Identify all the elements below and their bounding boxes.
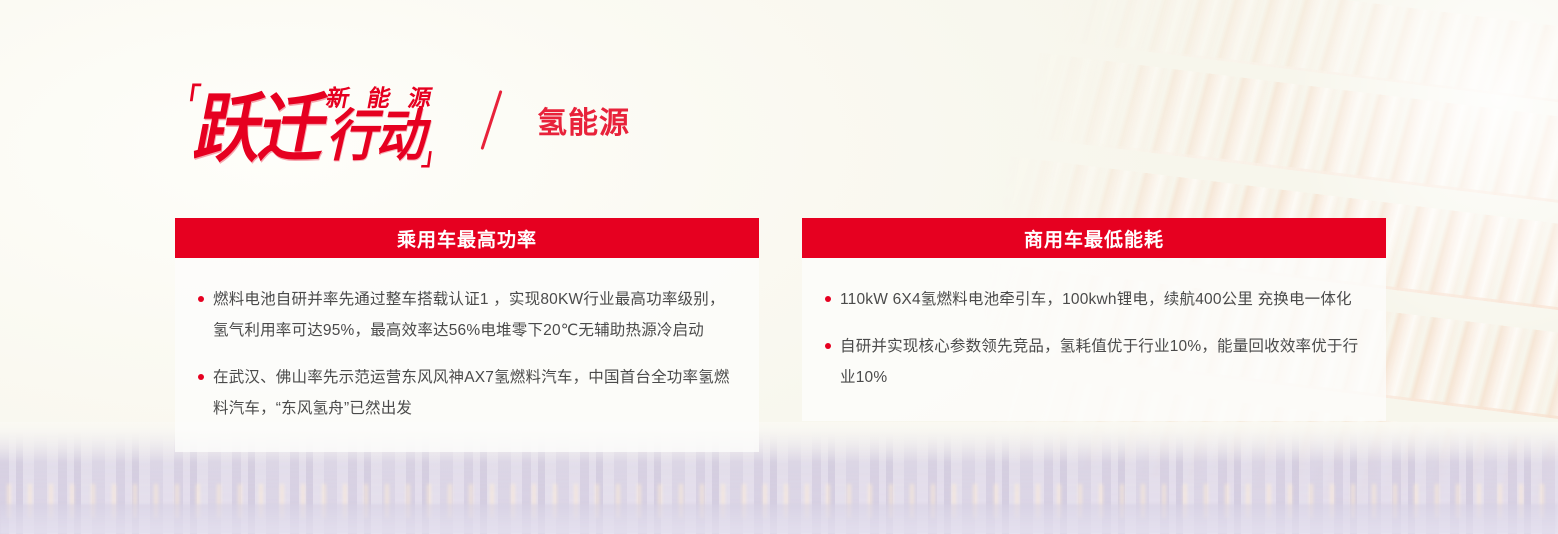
bullet-dot-icon bbox=[198, 374, 204, 380]
arch-rib-band bbox=[1055, 0, 1558, 128]
bullet-dot-icon bbox=[825, 343, 831, 349]
card-body: 110kW 6X4氢燃料电池牵引车，100kwh锂电，续航400公里 充换电一体… bbox=[802, 258, 1386, 421]
slide-header: 「 跃迁 新 能 源 行动 」 氢能源 bbox=[176, 70, 630, 170]
bullet-list: 110kW 6X4氢燃料电池牵引车，100kwh锂电，续航400公里 充换电一体… bbox=[818, 284, 1362, 393]
logo-close-bracket-icon: 」 bbox=[420, 146, 447, 170]
bullet-dot-icon bbox=[825, 296, 831, 302]
logo-secondary-group: 新 能 源 行动 bbox=[324, 88, 434, 164]
slide-canvas: 「 跃迁 新 能 源 行动 」 氢能源 乘用车最高功率 燃料电池自研并率先通过整… bbox=[0, 0, 1558, 534]
card-header-bar: 乘用车最高功率 bbox=[175, 218, 759, 258]
brand-logo: 「 跃迁 新 能 源 行动 」 bbox=[176, 74, 434, 166]
list-item: 110kW 6X4氢燃料电池牵引车，100kwh锂电，续航400公里 充换电一体… bbox=[818, 284, 1362, 315]
arch-rib-band bbox=[1024, 52, 1558, 225]
card-body: 燃料电池自研并率先通过整车搭载认证1 ，实现80KW行业最高功率级别，氢气利用率… bbox=[175, 258, 759, 452]
bullet-list: 燃料电池自研并率先通过整车搭载认证1 ，实现80KW行业最高功率级别，氢气利用率… bbox=[191, 284, 735, 424]
card-title: 商用车最低能耗 bbox=[1024, 225, 1164, 252]
list-item: 自研并实现核心参数领先竞品，氢耗值优于行业10%，能量回收效率优于行业10% bbox=[818, 331, 1362, 393]
logo-action-text: 行动 bbox=[324, 108, 435, 164]
page-title: 氢能源 bbox=[537, 98, 630, 142]
card-title: 乘用车最高功率 bbox=[397, 225, 537, 252]
list-item-text: 自研并实现核心参数领先竞品，氢耗值优于行业10%，能量回收效率优于行业10% bbox=[840, 338, 1358, 386]
slash-divider-icon bbox=[481, 90, 503, 150]
card-header-bar: 商用车最低能耗 bbox=[802, 218, 1386, 258]
bullet-dot-icon bbox=[198, 296, 204, 302]
list-item-text: 燃料电池自研并率先通过整车搭载认证1 ，实现80KW行业最高功率级别，氢气利用率… bbox=[213, 291, 725, 339]
logo-open-bracket-icon: 「 bbox=[172, 84, 202, 110]
list-item-text: 在武汉、佛山率先示范运营东风风神AX7氢燃料汽车，中国首台全功率氢燃料汽车，“东… bbox=[213, 369, 730, 417]
list-item: 燃料电池自研并率先通过整车搭载认证1 ，实现80KW行业最高功率级别，氢气利用率… bbox=[191, 284, 735, 346]
logo-main-text: 跃迁 bbox=[190, 95, 332, 166]
card-passenger-vehicle-max-power: 乘用车最高功率 燃料电池自研并率先通过整车搭载认证1 ，实现80KW行业最高功率… bbox=[175, 218, 759, 452]
list-item: 在武汉、佛山率先示范运营东风风神AX7氢燃料汽车，中国首台全功率氢燃料汽车，“东… bbox=[191, 362, 735, 424]
skyline-river bbox=[0, 504, 1558, 534]
skyline-lights bbox=[0, 484, 1558, 518]
list-item-text: 110kW 6X4氢燃料电池牵引车，100kwh锂电，续航400公里 充换电一体… bbox=[840, 291, 1352, 308]
card-commercial-vehicle-min-consumption: 商用车最低能耗 110kW 6X4氢燃料电池牵引车，100kwh锂电，续航400… bbox=[802, 218, 1386, 421]
